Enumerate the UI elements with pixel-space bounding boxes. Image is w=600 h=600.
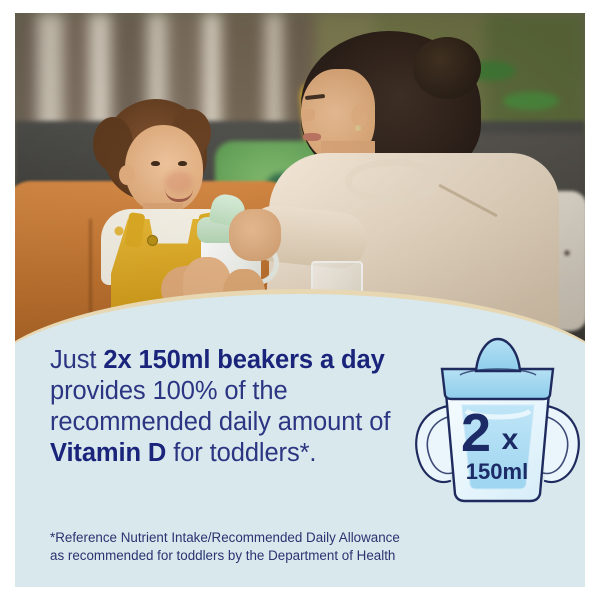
promo-card: Just 2x 150ml beakers a day provides 100…: [15, 13, 585, 587]
beaker-multiplier-number: 2: [461, 403, 491, 463]
footnote-line-2: as recommended for toddlers by the Depar…: [50, 548, 395, 563]
footnote-line-1: *Reference Nutrient Intake/Recommended D…: [50, 530, 400, 545]
beaker-lid: [442, 369, 553, 399]
headline-bold-vitamin-d: Vitamin D: [50, 439, 166, 467]
beaker-multiplier-suffix: x: [502, 423, 519, 456]
headline-part2: provides 100% of the recommended daily a…: [50, 377, 390, 436]
headline-part3: for toddlers*.: [166, 439, 316, 467]
headline-bold-beakers: 2x 150ml beakers a day: [103, 346, 384, 374]
footnote-text: *Reference Nutrient Intake/Recommended D…: [50, 529, 570, 564]
sippy-cup-beaker-icon: 2 x 150ml: [410, 339, 585, 519]
headline-part1: Just: [50, 346, 103, 374]
headline-text: Just 2x 150ml beakers a day provides 100…: [50, 345, 410, 469]
beaker-volume-label: 150ml: [466, 459, 528, 484]
beaker-spout: [476, 339, 520, 371]
